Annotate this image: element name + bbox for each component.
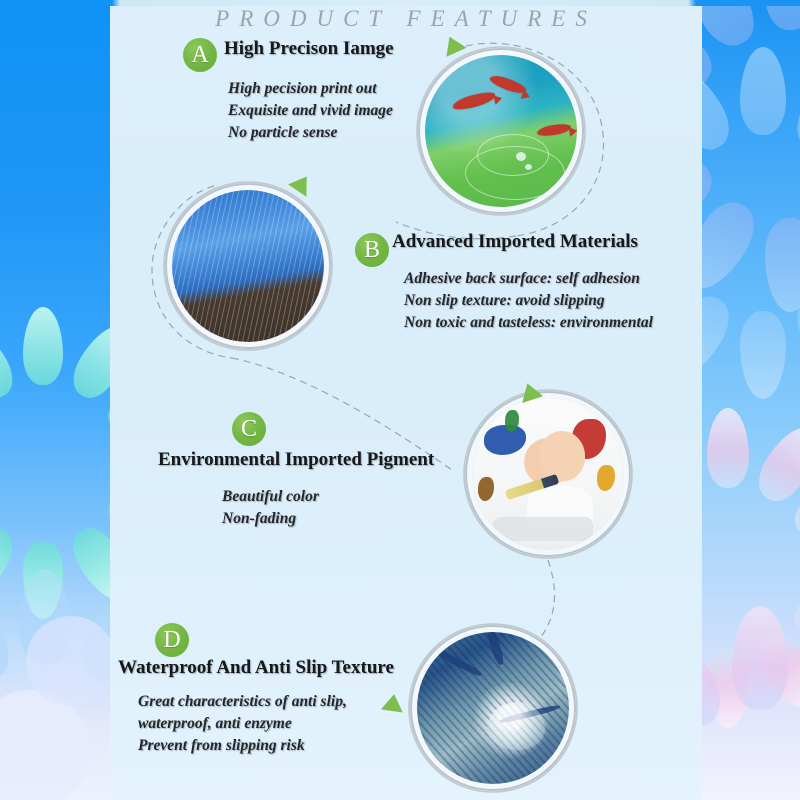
feature-line: Adhesive back surface: self adhesion — [404, 268, 653, 290]
paint-splatter — [597, 465, 615, 491]
feature-heading-a: High Precison Iamge — [224, 38, 394, 60]
feature-line: High pecision print out — [228, 78, 393, 100]
feature-line: Exquisite and vivid image — [228, 100, 393, 122]
paint-splatter — [478, 477, 494, 501]
feature-line: Non toxic and tasteless: environmental — [404, 312, 653, 334]
feature-image-a — [425, 55, 577, 207]
feature-heading-b: Advanced Imported Materials — [392, 231, 638, 253]
water-ripple — [465, 146, 565, 200]
baby-head — [539, 431, 585, 481]
connector-wires — [0, 0, 800, 800]
product-features-poster: PRODUCT FEATURES — [0, 0, 800, 800]
feature-line: Non-fading — [222, 508, 319, 530]
koi-pond-illustration — [425, 55, 577, 207]
feature-line: Non slip texture: avoid slipping — [404, 290, 653, 312]
feature-line: waterproof, anti enzyme — [138, 713, 347, 735]
paint-splatter — [484, 425, 526, 455]
feature-badge-d: D — [155, 623, 189, 657]
marble-vein — [434, 648, 483, 679]
ribbed-fabric-texture — [172, 190, 324, 342]
koi-fish — [452, 89, 498, 111]
feature-badge-b: B — [355, 233, 389, 267]
feature-line: Prevent from slipping risk — [138, 735, 347, 757]
arrow-marker-d — [381, 693, 405, 713]
feature-body-c: Beautiful color Non-fading — [222, 486, 319, 530]
feature-badge-a: A — [183, 38, 217, 72]
feature-line: Great characteristics of anti slip, — [138, 691, 347, 713]
baby-painting-photo — [472, 398, 624, 550]
feature-image-d — [417, 632, 569, 784]
water-droplet — [487, 702, 545, 750]
feature-line: No particle sense — [228, 122, 393, 144]
feature-body-d: Great characteristics of anti slip, wate… — [138, 691, 347, 757]
marble-vein — [484, 632, 505, 666]
feature-image-b — [172, 190, 324, 342]
feature-body-a: High pecision print out Exquisite and vi… — [228, 78, 393, 144]
paint-tray — [493, 517, 593, 541]
feature-line: Beautiful color — [222, 486, 319, 508]
feature-image-c — [472, 398, 624, 550]
koi-fish — [537, 123, 572, 138]
feature-heading-c: Environmental Imported Pigment — [158, 449, 434, 471]
anti-slip-texture-photo — [417, 632, 569, 784]
feature-badge-c: C — [232, 412, 266, 446]
feature-body-b: Adhesive back surface: self adhesion Non… — [404, 268, 653, 334]
feature-heading-d: Waterproof And Anti Slip Texture — [118, 657, 394, 679]
